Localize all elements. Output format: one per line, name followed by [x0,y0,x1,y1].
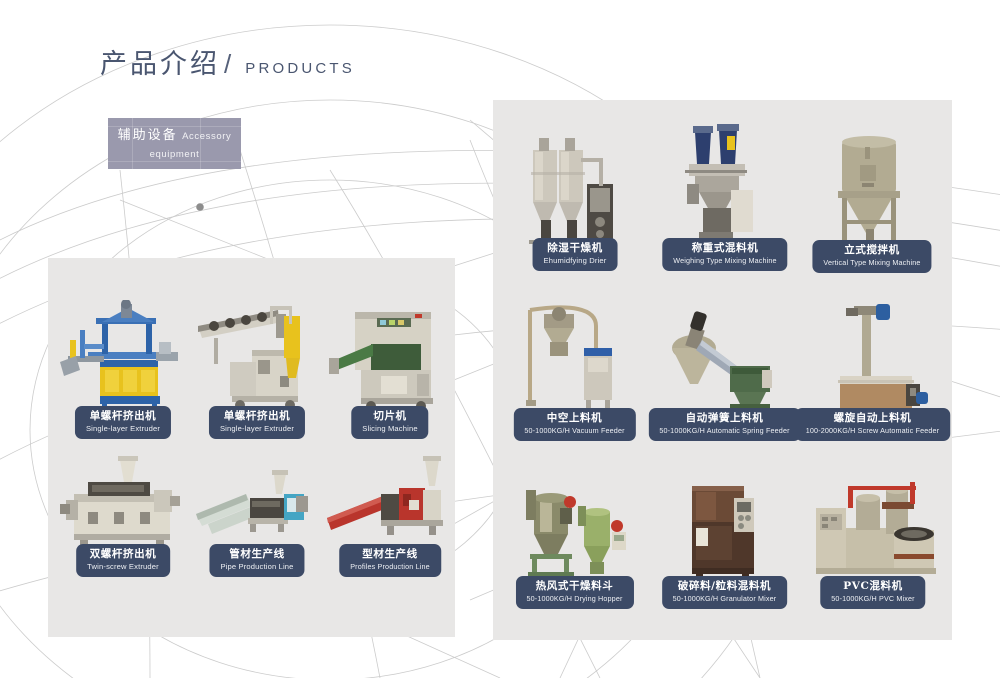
product-cell-single-layer-extruder-2[interactable]: 单螺杆挤出机 Single-layer Extruder [192,300,322,435]
profiles-production-line-icon [325,438,455,558]
badge-label-en: Slicing Machine [362,424,417,434]
badge-label-cn: 立式搅拌机 [823,244,920,257]
product-badge[interactable]: 型材生产线 Profiles Production Line [339,544,441,577]
badge-label-cn: PVC混料机 [831,580,914,593]
product-badge[interactable]: 螺旋自动上料机 100-2000KG/H Screw Automatic Fee… [795,408,951,441]
product-badge[interactable]: PVC混料机 50-1000KG/H PVC Mixer [820,576,925,609]
badge-label-en: Single-layer Extruder [86,424,160,434]
badge-label-en: Ehumidfying Drier [544,256,607,266]
product-badge[interactable]: 破碎料/粒料混料机 50-1000KG/H Granulator Mixer [662,576,788,609]
drying-hopper-icon [512,468,637,593]
badge-label-en: 100-2000KG/H Screw Automatic Feeder [806,426,940,436]
weighing-mixer-icon [665,118,785,253]
pvc-mixer-icon [808,468,938,593]
badge-label-en: Single-layer Extruder [220,424,294,434]
badge-label-cn: 热风式干燥料斗 [526,580,622,593]
title-slash: / [224,49,231,80]
badge-label-cn: 破碎料/粒料混料机 [673,580,777,593]
vacuum-feeder-icon [512,300,637,425]
badge-label-en: Profiles Production Line [350,562,430,572]
screw-feeder-icon [810,296,935,426]
badge-label-cn: 管材生产线 [220,548,293,561]
badge-label-cn: 双螺杆挤出机 [87,548,159,561]
granulator-mixer-icon [662,468,787,593]
product-cell-pipe-production-line[interactable]: 管材生产线 Pipe Production Line [192,438,322,573]
twin-screw-extruder-icon [58,438,188,558]
badge-label-en: 50-1000KG/H PVC Mixer [831,594,914,604]
product-badge[interactable]: 自动弹簧上料机 50-1000KG/H Automatic Spring Fee… [648,408,800,441]
badge-label-cn: 除湿干燥机 [544,242,607,255]
product-cell-pvc-mixer[interactable]: PVC混料机 50-1000KG/H PVC Mixer [808,468,938,608]
product-badge[interactable]: 管材生产线 Pipe Production Line [209,544,304,577]
vertical-mixer-icon [812,125,932,255]
product-badge[interactable]: 双螺杆挤出机 Twin-screw Extruder [76,544,170,577]
badge-label-en: Vertical Type Mixing Machine [823,258,920,268]
badge-label-en: Weighing Type Mixing Machine [673,256,776,266]
single-layer-extruder-roller-icon [192,300,322,420]
badge-label-cn: 切片机 [362,410,417,423]
badge-label-en: 50-1000KG/H Drying Hopper [526,594,622,604]
product-cell-twin-screw-extruder[interactable]: 双螺杆挤出机 Twin-screw Extruder [58,438,188,573]
spring-feeder-icon [662,300,787,425]
page-title-en: PRODUCTS [245,60,355,77]
page-title-cn: 产品介绍 [100,42,220,81]
badge-label-en: 50-1000KG/H Automatic Spring Feeder [659,426,789,436]
product-badge[interactable]: 中空上料机 50-1000KG/H Vacuum Feeder [513,408,635,441]
product-badge[interactable]: 单螺杆挤出机 Single-layer Extruder [209,406,305,439]
badge-label-en: Pipe Production Line [220,562,293,572]
product-cell-profiles-production-line[interactable]: 型材生产线 Profiles Production Line [325,438,455,573]
dehumidifying-drier-icon [515,128,635,253]
badge-label-cn: 单螺杆挤出机 [86,410,160,423]
product-badge[interactable]: 称重式混料机 Weighing Type Mixing Machine [662,238,787,271]
product-cell-vertical-mixer[interactable]: 立式搅拌机 Vertical Type Mixing Machine [812,125,932,270]
badge-label-en: 50-1000KG/H Granulator Mixer [673,594,777,604]
product-badge[interactable]: 热风式干燥料斗 50-1000KG/H Drying Hopper [515,576,633,609]
catalog-page: 产品介绍 / PRODUCTS 辅助设备 Accessory equipment [0,0,1000,678]
product-cell-drying-hopper[interactable]: 热风式干燥料斗 50-1000KG/H Drying Hopper [512,468,637,608]
badge-label-cn: 中空上料机 [524,412,624,425]
product-cell-weighing-mixer[interactable]: 称重式混料机 Weighing Type Mixing Machine [665,118,785,268]
product-cell-vacuum-feeder[interactable]: 中空上料机 50-1000KG/H Vacuum Feeder [512,300,637,440]
product-badge[interactable]: 单螺杆挤出机 Single-layer Extruder [75,406,171,439]
accessory-tile-label-cn: 辅助设备 [118,128,178,143]
badge-label-cn: 型材生产线 [350,548,430,561]
product-cell-dehumidifying-drier[interactable]: 除湿干燥机 Ehumidfying Drier [515,128,635,268]
product-badge[interactable]: 切片机 Slicing Machine [351,406,428,439]
product-cell-spring-feeder[interactable]: 自动弹簧上料机 50-1000KG/H Automatic Spring Fee… [662,300,787,440]
product-badge[interactable]: 立式搅拌机 Vertical Type Mixing Machine [812,240,931,273]
product-cell-single-layer-extruder-1[interactable]: 单螺杆挤出机 Single-layer Extruder [58,300,188,435]
product-cell-granulator-mixer[interactable]: 破碎料/粒料混料机 50-1000KG/H Granulator Mixer [662,468,787,608]
slicing-machine-icon [325,300,455,420]
accessory-equipment-tile[interactable]: 辅助设备 Accessory equipment [108,118,241,169]
badge-label-cn: 自动弹簧上料机 [659,412,789,425]
product-cell-slicing-machine[interactable]: 切片机 Slicing Machine [325,300,455,435]
badge-label-cn: 螺旋自动上料机 [806,412,940,425]
page-title: 产品介绍 / PRODUCTS [100,42,355,81]
single-screw-extruder-blue-icon [58,300,188,420]
pipe-production-line-icon [192,438,322,558]
product-badge[interactable]: 除湿干燥机 Ehumidfying Drier [533,238,618,271]
badge-label-en: 50-1000KG/H Vacuum Feeder [524,426,624,436]
badge-label-cn: 称重式混料机 [673,242,776,255]
badge-label-cn: 单螺杆挤出机 [220,410,294,423]
badge-label-en: Twin-screw Extruder [87,562,159,572]
product-cell-screw-feeder[interactable]: 螺旋自动上料机 100-2000KG/H Screw Automatic Fee… [810,296,935,441]
